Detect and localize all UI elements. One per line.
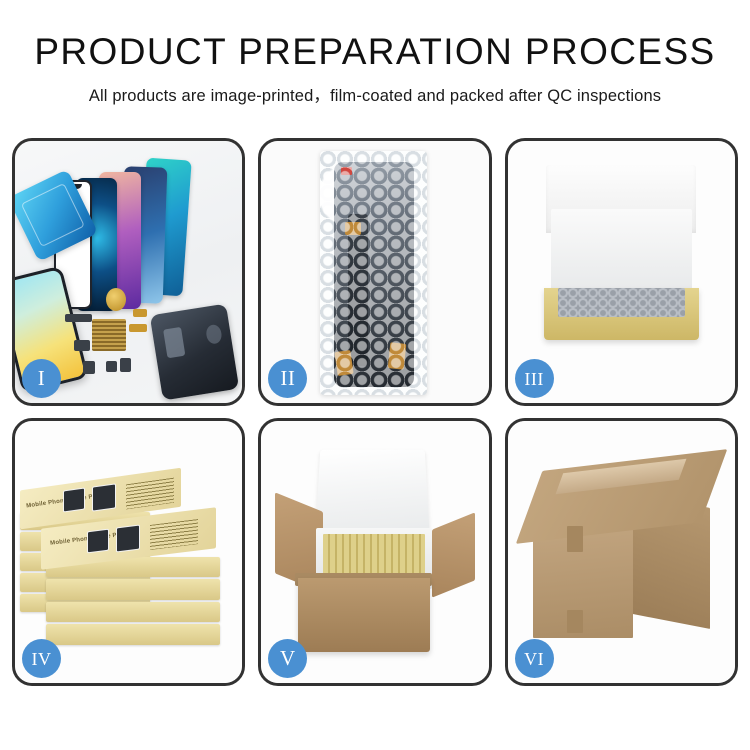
box-screen-image-1a — [63, 488, 85, 514]
step-panel-2[interactable]: II — [258, 138, 491, 406]
small-part-gold-a — [133, 309, 147, 317]
phone-back-housing — [150, 303, 240, 400]
packed-yellow-boxes — [323, 534, 425, 579]
box-stack: Mobile Phone Spare Parts Mobile Phone Sp… — [20, 463, 238, 667]
step-badge-1: I — [22, 359, 61, 398]
red-label-tag — [341, 167, 352, 175]
small-part-button — [106, 361, 117, 371]
header: PRODUCT PREPARATION PROCESS All products… — [0, 0, 750, 106]
connector-bottom-right — [387, 342, 406, 370]
small-part-gold-b — [129, 324, 147, 332]
small-part-strip — [65, 314, 92, 322]
step-panel-1[interactable]: I — [12, 138, 245, 406]
step-panel-5[interactable]: V — [258, 418, 491, 686]
box-screen-image-2a — [87, 529, 109, 554]
steps-grid: I II III — [12, 138, 738, 686]
foam-padding — [551, 209, 692, 295]
step-panel-3[interactable]: III — [505, 138, 738, 406]
step-panel-4[interactable]: Mobile Phone Spare Parts Mobile Phone Sp… — [12, 418, 245, 686]
step-panel-6[interactable]: VI — [505, 418, 738, 686]
step-badge-6: VI — [515, 639, 554, 678]
carton-tab-upper — [567, 526, 583, 552]
flex-cable — [348, 214, 368, 366]
page-title: PRODUCT PREPARATION PROCESS — [0, 32, 750, 73]
product-preparation-infographic: PRODUCT PREPARATION PROCESS All products… — [0, 0, 750, 750]
small-part-flex-b — [83, 361, 94, 374]
step-badge-3: III — [515, 359, 554, 398]
carton-tab-lower — [567, 610, 583, 634]
carton-body — [298, 578, 430, 651]
box-screen-image-1b — [92, 484, 116, 512]
small-part-flex-a — [74, 340, 90, 350]
bubble-wrapped-contents — [558, 288, 685, 317]
stacked-box-r4 — [46, 624, 221, 644]
step-badge-4: IV — [22, 639, 61, 678]
box-screen-image-2b — [116, 525, 140, 552]
small-part-camera — [120, 358, 131, 371]
stacked-box-r3 — [46, 602, 221, 622]
foam-lid-open — [316, 450, 430, 532]
carton-flap-right — [432, 512, 475, 598]
page-subtitle: All products are image-printed，film-coat… — [0, 82, 750, 106]
stacked-box-r2 — [46, 579, 221, 599]
connector-top — [345, 222, 361, 235]
screw-tray-icon — [92, 319, 126, 350]
